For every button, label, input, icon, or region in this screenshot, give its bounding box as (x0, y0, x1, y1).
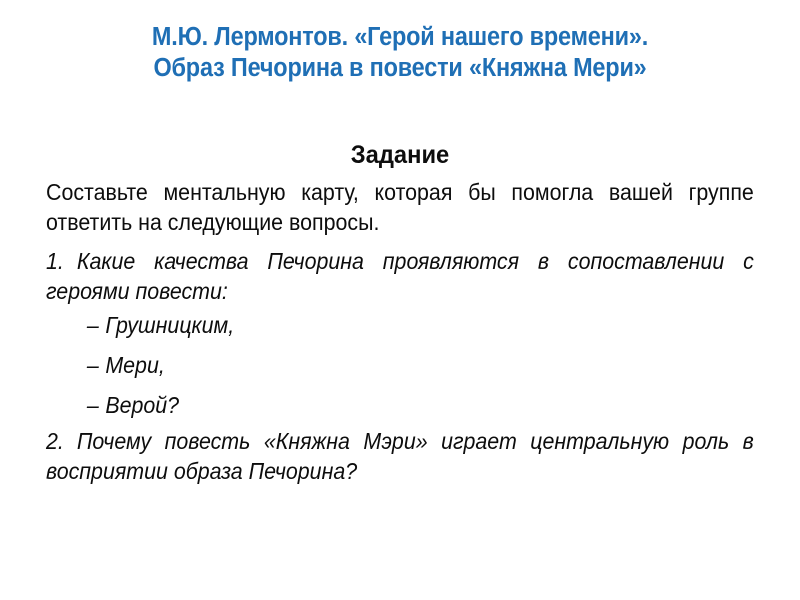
question-number-1: 1. (46, 248, 64, 274)
dash-bullet-icon: – (87, 312, 99, 338)
list-item: –Мери, (46, 352, 704, 378)
slide-title: М.Ю. Лермонтов. «Герой нашего времени». … (69, 22, 731, 84)
sub-item-label: Верой? (105, 392, 179, 418)
question-item-2: 2.Почему повесть «Княжна Мэри» играет це… (46, 426, 754, 486)
sub-item-label: Мери, (105, 352, 164, 378)
slide-title-line-2: Образ Печорина в повести «Княжна Мери» (69, 53, 731, 84)
list-item: –Верой? (46, 392, 704, 418)
slide-body: Задание Составьте ментальную карту, кото… (46, 140, 754, 492)
dash-bullet-icon: – (87, 352, 99, 378)
dash-bullet-icon: – (87, 392, 99, 418)
question-text-1: Какие качества Печорина проявляются в со… (46, 248, 754, 304)
question-number-2: 2. (46, 428, 64, 454)
sub-item-list: –Грушницким, –Мери, –Верой? (46, 312, 754, 418)
question-item-1: 1.Какие качества Печорина проявляются в … (46, 246, 754, 306)
list-item: –Грушницким, (46, 312, 704, 338)
task-heading: Задание (64, 140, 737, 170)
presentation-slide: М.Ю. Лермонтов. «Герой нашего времени». … (0, 0, 800, 600)
intro-paragraph: Составьте ментальную карту, которая бы п… (46, 177, 754, 237)
question-text-2: Почему повесть «Княжна Мэри» играет цент… (46, 428, 754, 484)
slide-title-line-1: М.Ю. Лермонтов. «Герой нашего времени». (69, 22, 731, 53)
sub-item-label: Грушницким, (105, 312, 234, 338)
